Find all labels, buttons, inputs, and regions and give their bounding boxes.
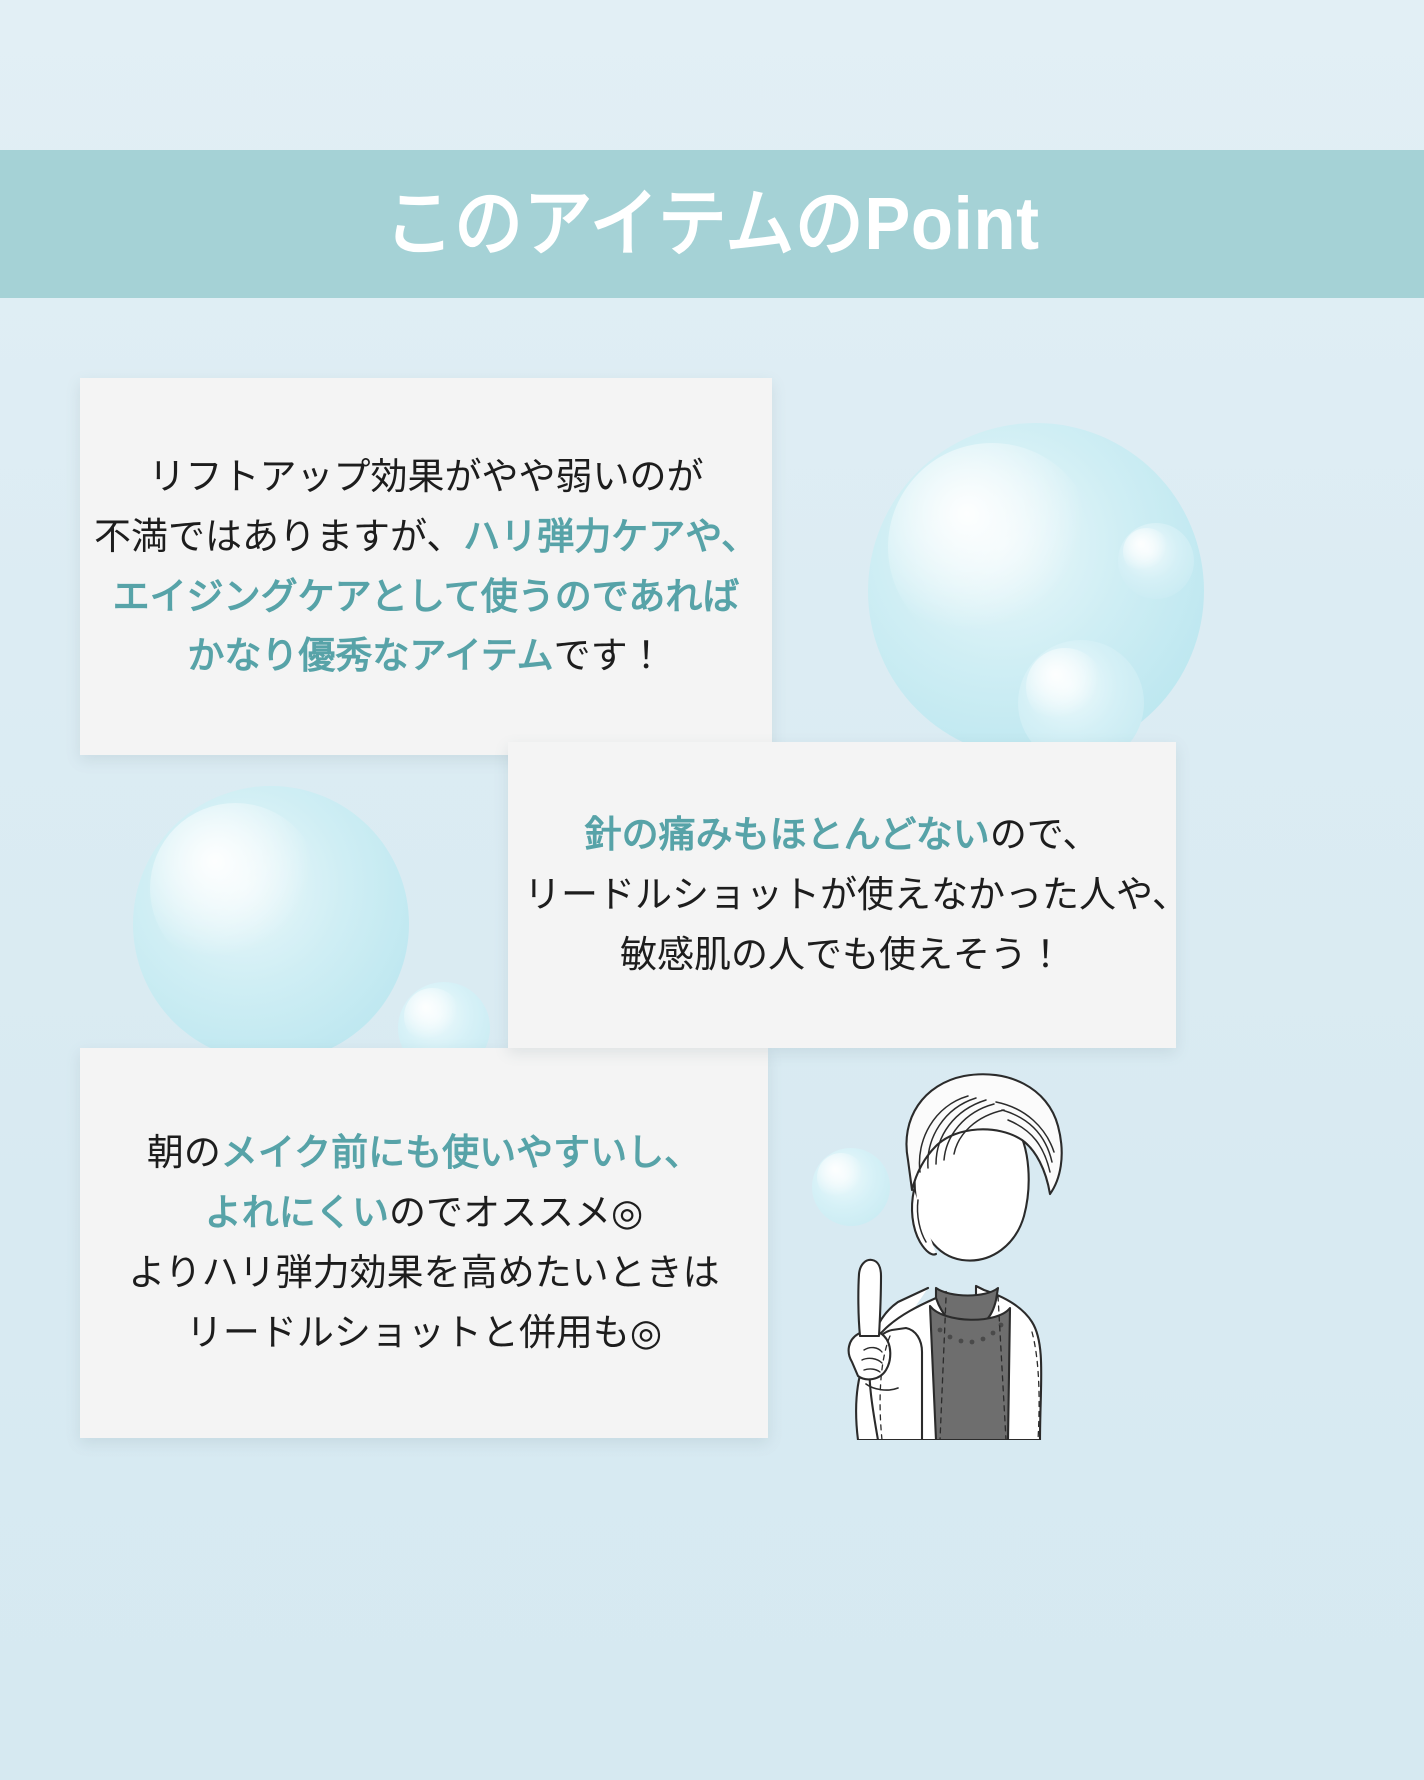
plain-text: よりハリ弾力効果を高めたいときは [128, 1252, 719, 1293]
card-text-line: リードルショットが使えなかった人や、 [524, 865, 1160, 925]
highlighted-text: ハリ弾力ケアや、 [463, 516, 758, 557]
card-text-line: 不満ではありますが、ハリ弾力ケアや、 [94, 507, 758, 567]
plain-text: のでオススメ◎ [389, 1192, 643, 1233]
plain-text: リードルショットが使えなかった人や、 [524, 874, 1189, 915]
plain-text: 敏感肌の人でも使えそう！ [620, 934, 1064, 975]
infographic-page: このアイテムのPoint リフトアップ効果がやや弱いのが不満ではありますが、ハリ… [0, 0, 1424, 1780]
bubble-decoration-large-left [133, 786, 409, 1062]
point-card-2: 針の痛みもほとんどないので、リードルショットが使えなかった人や、敏感肌の人でも使… [508, 742, 1176, 1048]
point-card-3: 朝のメイク前にも使いやすいし、よれにくいのでオススメ◎よりハリ弾力効果を高めたい… [80, 1048, 768, 1438]
card-text-line: よりハリ弾力効果を高めたいときは [96, 1243, 752, 1303]
card-text-line: よれにくいのでオススメ◎ [96, 1183, 752, 1243]
highlighted-text: 針の痛みもほとんどない [585, 814, 990, 855]
header-band: このアイテムのPoint [0, 150, 1424, 298]
card-text-line: エイジングケアとして使うのであれば [94, 567, 758, 627]
card-text-line: リフトアップ効果がやや弱いのが [94, 447, 758, 507]
plain-text: 朝の [147, 1132, 221, 1173]
plain-text: です！ [554, 635, 665, 676]
page-title: このアイテムのPoint [384, 187, 1039, 261]
card-text-line: 敏感肌の人でも使えそう！ [524, 925, 1160, 985]
highlighted-text: メイク前にも使いやすいし、 [221, 1132, 701, 1173]
highlighted-text: かなり優秀なアイテム [187, 635, 553, 676]
bubble-decoration-small-right [1118, 523, 1194, 599]
card-text-line: 針の痛みもほとんどないので、 [524, 805, 1160, 865]
card-text-line: かなり優秀なアイテムです！ [94, 626, 758, 686]
point-card-1: リフトアップ効果がやや弱いのが不満ではありますが、ハリ弾力ケアや、エイジングケア… [80, 378, 772, 755]
plain-text: 不満ではありますが、 [94, 516, 463, 557]
bubble-decoration-large-right [868, 423, 1204, 759]
pointing-person-illustration [740, 1040, 1140, 1440]
plain-text: リードルショットと併用も◎ [186, 1312, 662, 1353]
bubble-decoration-small-bottom [812, 1148, 890, 1226]
card-text-line: 朝のメイク前にも使いやすいし、 [96, 1123, 752, 1183]
plain-text: ので、 [990, 814, 1100, 855]
highlighted-text: よれにくい [205, 1192, 389, 1233]
highlighted-text: エイジングケアとして使うのであれば [113, 576, 740, 617]
card-text-line: リードルショットと併用も◎ [96, 1303, 752, 1363]
plain-text: リフトアップ効果がやや弱いのが [149, 456, 704, 497]
